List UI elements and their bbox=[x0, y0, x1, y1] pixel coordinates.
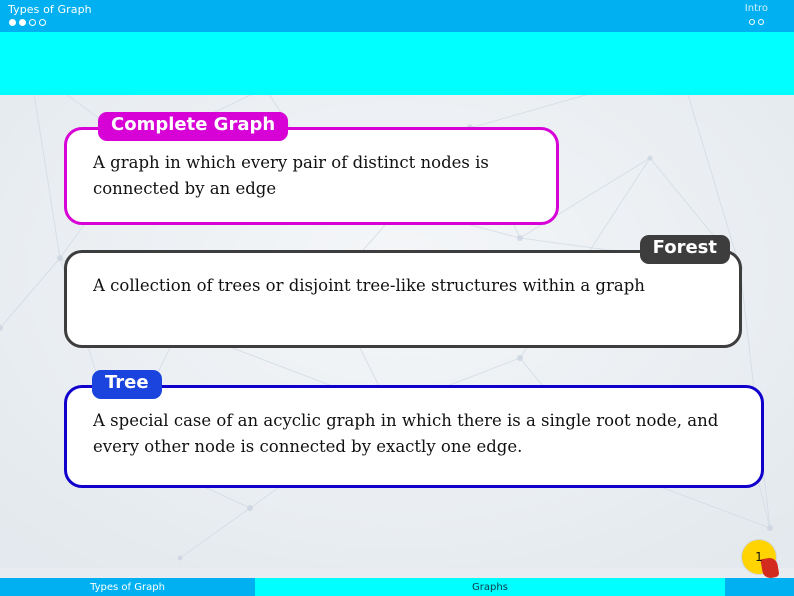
bottombar-section-label[interactable]: Types of Graph bbox=[0, 578, 255, 596]
definition-body-complete-graph: A graph in which every pair of distinct … bbox=[93, 150, 534, 201]
progress-dot[interactable] bbox=[39, 19, 46, 26]
progress-dot[interactable] bbox=[9, 19, 16, 26]
bottom-status-bar: Types of Graph Graphs bbox=[0, 578, 794, 596]
definition-tag-forest: Forest bbox=[640, 235, 730, 264]
definition-block-tree: A special case of an acyclic graph in wh… bbox=[64, 385, 764, 488]
definition-body-forest: A collection of trees or disjoint tree-l… bbox=[93, 273, 717, 299]
progress-dot[interactable] bbox=[29, 19, 36, 26]
topbar-subsection-label[interactable]: Intro bbox=[745, 3, 768, 14]
topbar-progress-dots-left bbox=[9, 19, 46, 26]
topbar-section-label[interactable]: Types of Graph bbox=[8, 3, 92, 16]
bottombar-topic-label[interactable]: Graphs bbox=[255, 578, 725, 596]
definition-tag-tree: Tree bbox=[92, 370, 162, 399]
definition-block-complete-graph: A graph in which every pair of distinct … bbox=[64, 127, 559, 225]
progress-dot[interactable] bbox=[749, 19, 755, 25]
definition-body-tree: A special case of an acyclic graph in wh… bbox=[93, 408, 739, 459]
top-navigation-bar: Types of Graph Intro bbox=[0, 0, 794, 32]
definition-block-forest: A collection of trees or disjoint tree-l… bbox=[64, 250, 742, 348]
progress-dot[interactable] bbox=[19, 19, 26, 26]
progress-dot[interactable] bbox=[758, 19, 764, 25]
slide: Types of Graph Intro Types of Graph (1/2… bbox=[0, 0, 794, 596]
page-number-text: 1 bbox=[755, 550, 763, 564]
title-band bbox=[0, 32, 794, 95]
definition-tag-complete-graph: Complete Graph bbox=[98, 112, 288, 141]
page-number-badge: 1 bbox=[742, 540, 776, 574]
topbar-progress-dots-right bbox=[749, 19, 764, 25]
bottombar-filler bbox=[725, 578, 794, 596]
